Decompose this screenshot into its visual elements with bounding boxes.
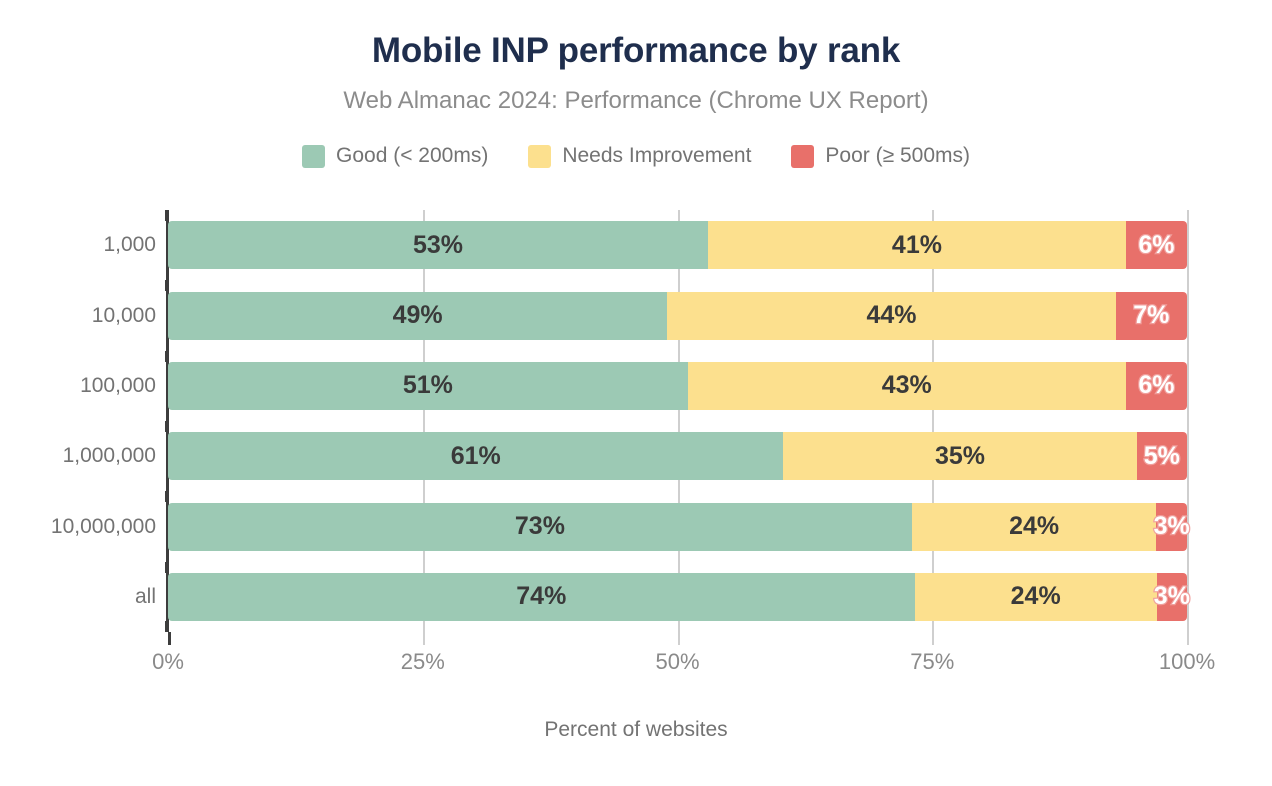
x-tick-mark-50 [678,632,680,645]
y-tick-2 [165,351,169,362]
chart-container: Mobile INP performance by rank Web Alman… [0,0,1272,786]
bar-segment-label: 53% [413,231,463,260]
bar-segment-label: 6% [1138,371,1174,400]
plot-area: 53%41%6%49%44%7%51%43%6%61%35%5%73%24%3%… [168,210,1187,632]
bar-segment-label: 41% [892,231,942,260]
y-axis-label: 10,000 [0,292,156,340]
bar-segment[interactable]: 5% [1137,432,1187,480]
x-tick-label: 25% [401,649,445,675]
chart-legend: Good (< 200ms) Needs Improvement Poor (≥… [0,144,1272,168]
bar-segment[interactable]: 61% [168,432,783,480]
bar-segment[interactable]: 49% [168,292,667,340]
bar-segment[interactable]: 44% [667,292,1115,340]
bar-segment-label: 24% [1011,582,1061,611]
bar-row[interactable]: 51%43%6% [168,362,1187,410]
y-axis-label: 1,000,000 [0,432,156,480]
legend-item-good[interactable]: Good (< 200ms) [302,144,488,168]
legend-label-poor: Poor (≥ 500ms) [825,144,970,168]
chart-title: Mobile INP performance by rank [0,31,1272,71]
bar-segment-label: 3% [1154,582,1190,611]
bar-segment-label: 61% [451,442,501,471]
bar-segment[interactable]: 73% [168,503,912,551]
y-tick-3 [165,421,169,432]
bar-segment-label: 24% [1009,512,1059,541]
x-tick-mark-75 [932,632,934,645]
bar-segment-label: 3% [1154,512,1190,541]
bar-row[interactable]: 49%44%7% [168,292,1187,340]
bar-segment[interactable]: 51% [168,362,688,410]
bar-segment-label: 6% [1138,231,1174,260]
bar-segment[interactable]: 74% [168,573,915,621]
bar-row[interactable]: 73%24%3% [168,503,1187,551]
bar-segment-label: 7% [1133,301,1169,330]
bar-segment[interactable]: 43% [688,362,1126,410]
gridline-75 [932,210,934,632]
legend-label-good: Good (< 200ms) [336,144,488,168]
x-tick-label: 75% [910,649,954,675]
bar-segment[interactable]: 24% [915,573,1157,621]
bar-segment[interactable]: 35% [783,432,1136,480]
x-tick-label: 0% [152,649,184,675]
y-tick-1 [165,280,169,291]
y-axis-labels: 1,00010,000100,0001,000,00010,000,000all [0,210,156,632]
gridline-100 [1187,210,1189,632]
legend-swatch-needs-improvement [528,145,551,168]
bar-segment-label: 51% [403,371,453,400]
x-axis-title: Percent of websites [0,718,1272,742]
legend-swatch-good [302,145,325,168]
x-tick-mark-100 [1187,632,1189,645]
bar-segment-label: 49% [393,301,443,330]
y-axis-label: 100,000 [0,362,156,410]
bar-segment[interactable]: 6% [1126,221,1187,269]
bar-segment[interactable]: 7% [1116,292,1187,340]
y-tick-0 [165,210,169,221]
x-tick-mark-25 [423,632,425,645]
legend-label-needs-improvement: Needs Improvement [562,144,751,168]
bar-segment[interactable]: 3% [1156,503,1187,551]
chart-subtitle: Web Almanac 2024: Performance (Chrome UX… [0,87,1272,115]
bar-segment-label: 35% [935,442,985,471]
bar-segment[interactable]: 24% [912,503,1157,551]
bar-segment-label: 43% [882,371,932,400]
y-axis-label: 1,000 [0,221,156,269]
x-tick-mark-0 [168,632,171,645]
bar-segment[interactable]: 53% [168,221,708,269]
x-axis-ticks: 0%25%50%75%100% [168,632,1187,682]
bar-segment-label: 5% [1144,442,1180,471]
bar-row[interactable]: 53%41%6% [168,221,1187,269]
y-tick-5 [165,562,169,573]
bar-row[interactable]: 74%24%3% [168,573,1187,621]
bar-segment[interactable]: 6% [1126,362,1187,410]
y-tick-end [165,621,169,632]
legend-item-needs-improvement[interactable]: Needs Improvement [528,144,751,168]
x-tick-label: 50% [655,649,699,675]
y-tick-4 [165,491,169,502]
x-tick-label: 100% [1159,649,1215,675]
bar-segment-label: 74% [516,582,566,611]
legend-swatch-poor [791,145,814,168]
bar-row[interactable]: 61%35%5% [168,432,1187,480]
y-axis-label: all [0,573,156,621]
bar-segment-label: 73% [515,512,565,541]
gridline-25 [423,210,425,632]
bar-segment[interactable]: 3% [1157,573,1187,621]
bar-segment-label: 44% [866,301,916,330]
y-axis-label: 10,000,000 [0,503,156,551]
gridline-50 [678,210,680,632]
bar-segment[interactable]: 41% [708,221,1126,269]
legend-item-poor[interactable]: Poor (≥ 500ms) [791,144,970,168]
